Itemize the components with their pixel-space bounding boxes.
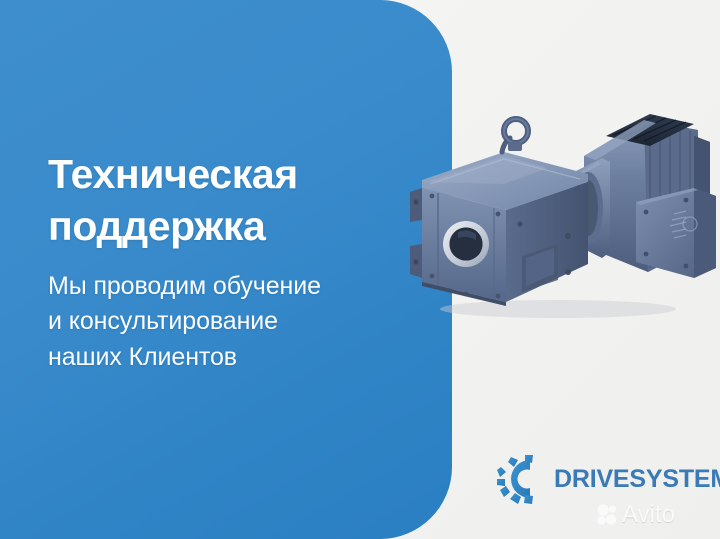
subhead-line-3: наших Клиентов [48,340,440,376]
product-image [398,96,720,326]
page-title: Техническая поддержка [48,148,440,253]
subhead-line-1: Мы проводим обучение [48,269,440,305]
brand-logo: DRIVESYSTEMS [497,448,709,510]
copy-block: Техническая поддержка Мы проводим обучен… [48,148,440,375]
brand-wordmark: DRIVESYSTEMS [554,467,720,492]
headline-line-1: Техническая [48,148,440,200]
promo-banner: Техническая поддержка Мы проводим обучен… [0,0,720,539]
subhead-line-2: и консультирование [48,304,440,340]
headline-line-2: поддержка [48,200,440,252]
gear-icon [497,454,545,504]
page-subtitle: Мы проводим обучение и консультирование … [48,269,440,376]
